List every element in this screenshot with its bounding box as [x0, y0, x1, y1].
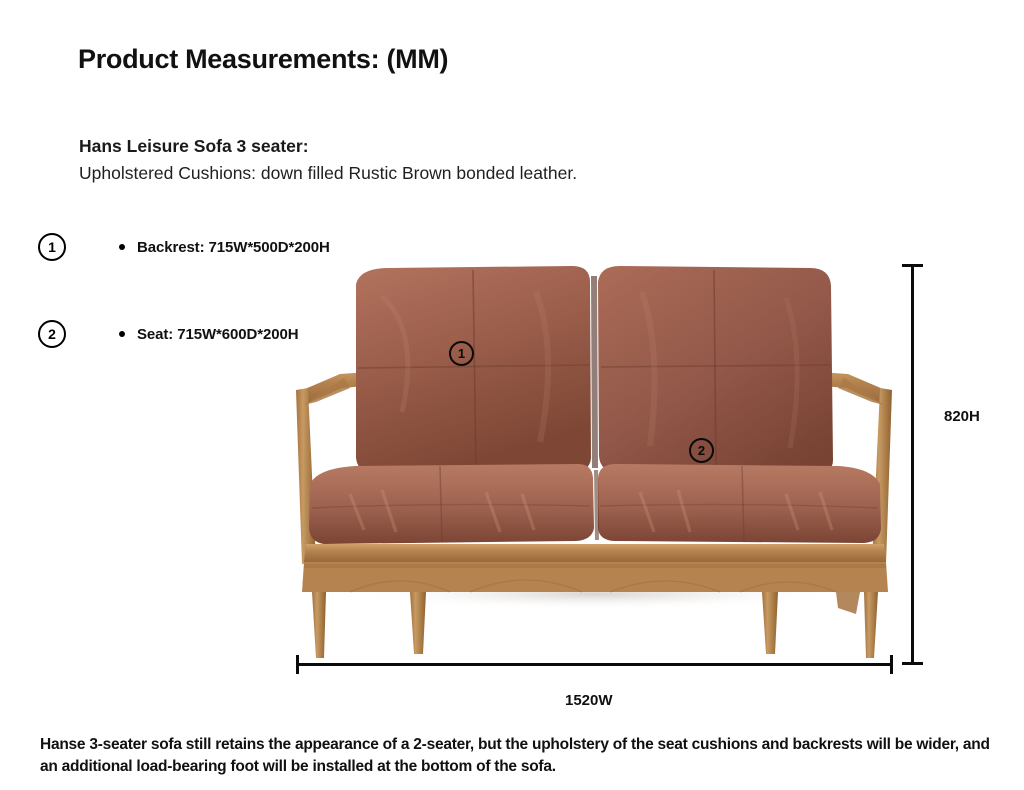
callout-marker-2: 2 [689, 438, 714, 463]
sofa-product-image [290, 262, 900, 667]
spec-item-label: Backrest: 715W*500D*200H [137, 239, 330, 256]
bullet-dot-icon [119, 331, 125, 337]
height-dimension-cap-bottom [902, 662, 923, 665]
sofa-illustration [290, 262, 900, 667]
backrest-cushions [356, 266, 833, 474]
bullet-dot-icon [119, 244, 125, 250]
page-title: Product Measurements: (MM) [78, 44, 448, 75]
sofa-seat-rail [302, 544, 888, 592]
height-dimension-line [911, 264, 914, 665]
spec-item-backrest: 1 Backrest: 715W*500D*200H [38, 232, 330, 262]
width-dimension-cap-right [890, 655, 893, 674]
height-dimension-cap-top [902, 264, 923, 267]
callout-marker-1: 1 [449, 341, 474, 366]
numbered-circle-icon: 1 [38, 233, 66, 261]
seat-cushion-right [598, 464, 881, 543]
spec-item-label: Seat: 715W*600D*200H [137, 326, 298, 343]
width-dimension-label: 1520W [565, 692, 613, 709]
footer-note: Hanse 3-seater sofa still retains the ap… [40, 734, 1005, 778]
seat-cushions [309, 464, 881, 544]
product-name: Hans Leisure Sofa 3 seater: [79, 136, 309, 157]
product-measurements-page: Product Measurements: (MM) Hans Leisure … [0, 0, 1024, 790]
product-description: Upholstered Cushions: down filled Rustic… [79, 163, 577, 184]
numbered-circle-icon: 2 [38, 320, 66, 348]
width-dimension-cap-left [296, 655, 299, 674]
height-dimension-label: 820H [944, 408, 980, 425]
width-dimension-line [296, 663, 893, 666]
spec-item-seat: 2 Seat: 715W*600D*200H [38, 319, 298, 349]
